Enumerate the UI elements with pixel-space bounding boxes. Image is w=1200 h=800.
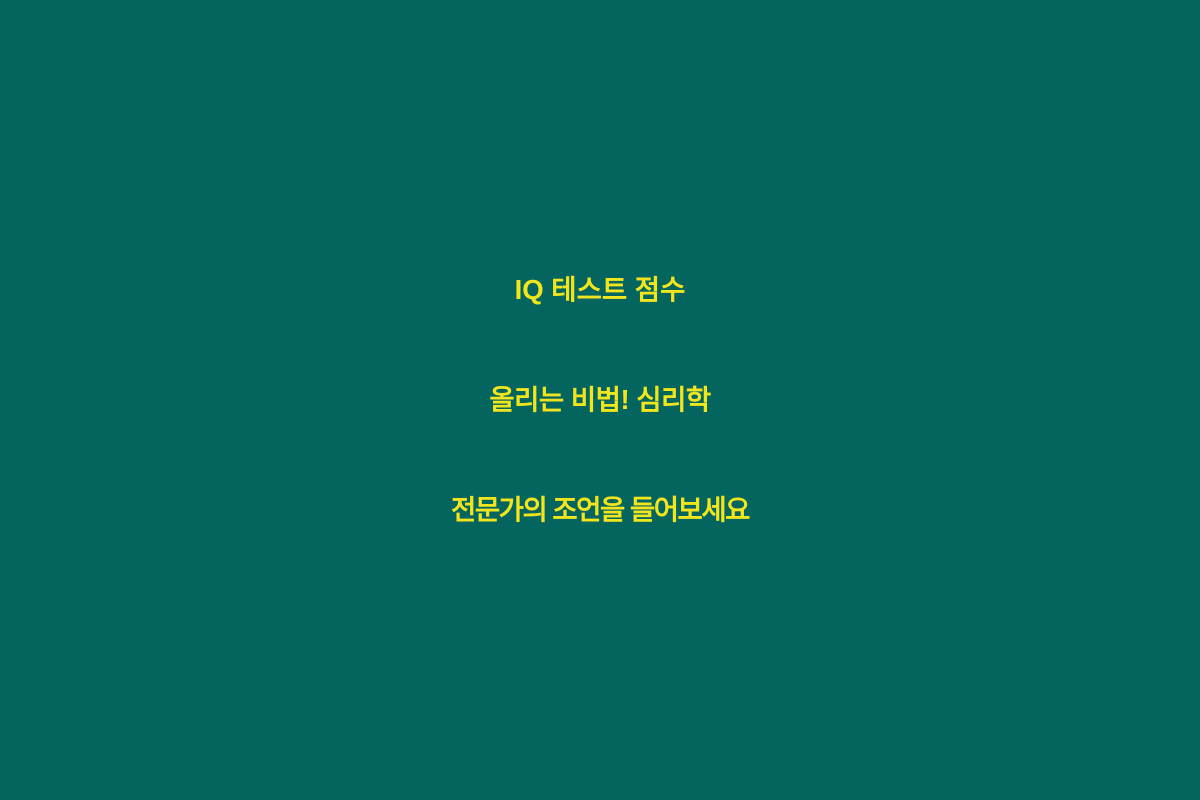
headline-line-1: IQ 테스트 점수 bbox=[18, 235, 1182, 345]
headline-line-3: 전문가의 조언을 들어보세요 bbox=[18, 455, 1182, 565]
headline-line-2: 올리는 비법! 심리학 bbox=[18, 345, 1182, 455]
headline: IQ 테스트 점수 올리는 비법! 심리학 전문가의 조언을 들어보세요 bbox=[0, 235, 1200, 565]
title-card: IQ 테스트 점수 올리는 비법! 심리학 전문가의 조언을 들어보세요 bbox=[0, 0, 1200, 800]
